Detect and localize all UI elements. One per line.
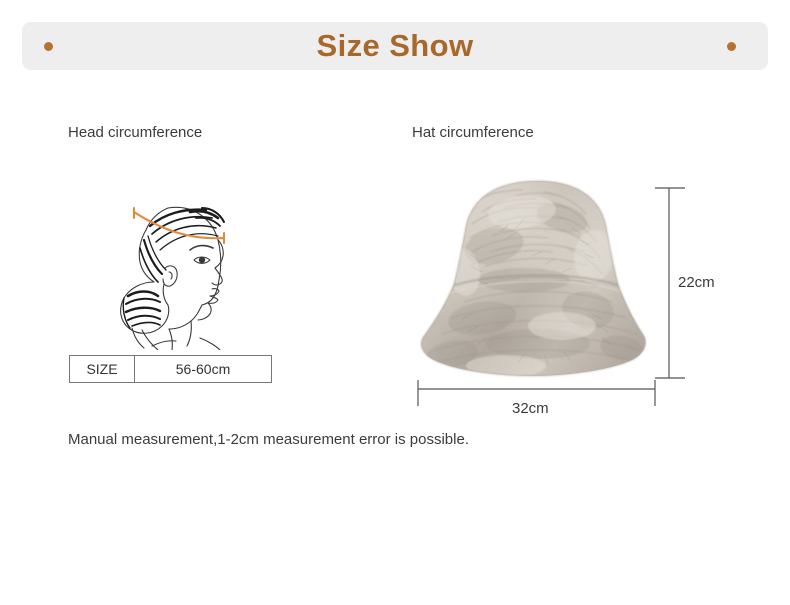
size-show-header-banner: Size Show [22, 22, 768, 70]
head-profile-illustration [72, 178, 272, 350]
page-title: Size Show [22, 22, 768, 70]
head-circumference-label: Head circumference [68, 124, 202, 141]
decor-dot-right-icon [727, 42, 736, 51]
hat-height-value: 22cm [678, 274, 715, 291]
faux-fur-bucket-hat-photo [412, 168, 662, 383]
measurement-disclaimer-note: Manual measurement,1-2cm measurement err… [68, 431, 469, 448]
size-table: SIZE 56-60cm [69, 355, 272, 383]
size-table-value-cell: 56-60cm [135, 356, 271, 382]
hat-circumference-label: Hat circumference [412, 124, 534, 141]
size-table-header-cell: SIZE [70, 356, 135, 382]
hat-width-value: 32cm [512, 400, 549, 417]
